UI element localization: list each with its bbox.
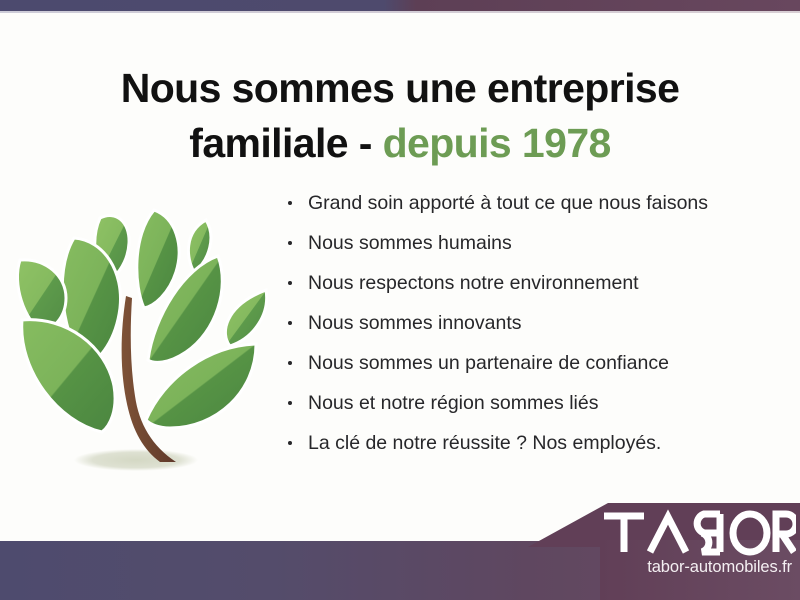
- list-item: Nous sommes un partenaire de confiance: [286, 350, 786, 376]
- bullet-dot-icon: [288, 401, 292, 405]
- top-accent-hairline: [0, 11, 800, 13]
- bullet-dot-icon: [288, 241, 292, 245]
- list-item: Grand soin apporté à tout ce que nous fa…: [286, 190, 786, 216]
- tree-shadow: [74, 449, 198, 471]
- list-item-label: Nous et notre région sommes liés: [308, 392, 598, 414]
- logo-tagline: tabor-automobiles.fr: [600, 558, 792, 577]
- list-item-label: Nous sommes humains: [308, 232, 512, 254]
- headline-line-2-accent: depuis 1978: [383, 120, 611, 166]
- leaf-far-right: [225, 290, 266, 346]
- logo-wordmark-icon: [600, 508, 796, 556]
- value-proposition-list: Grand soin apporté à tout ce que nous fa…: [286, 190, 786, 470]
- headline-line-2-black: familiale -: [189, 120, 382, 166]
- list-item: Nous sommes humains: [286, 230, 786, 256]
- tree-illustration: [8, 188, 274, 488]
- slide-canvas: Nous sommes une entreprise familiale - d…: [0, 0, 800, 600]
- bullet-dot-icon: [288, 321, 292, 325]
- list-item: Nous et notre région sommes liés: [286, 390, 786, 416]
- headline-line-1: Nous sommes une entreprise: [40, 61, 760, 115]
- bullet-dot-icon: [288, 441, 292, 445]
- list-item-label: Nous respectons notre environnement: [308, 272, 639, 294]
- brand-logo[interactable]: tabor-automobiles.fr: [600, 508, 796, 592]
- list-item: La clé de notre réussite ? Nos employés.: [286, 430, 786, 456]
- list-item-label: Nous sommes un partenaire de confiance: [308, 352, 669, 374]
- list-item-label: Grand soin apporté à tout ce que nous fa…: [308, 192, 708, 214]
- bullet-dot-icon: [288, 281, 292, 285]
- list-item-label: La clé de notre réussite ? Nos employés.: [308, 432, 661, 454]
- list-item: Nous respectons notre environnement: [286, 270, 786, 296]
- top-accent-bar: [0, 0, 800, 11]
- bullet-dot-icon: [288, 361, 292, 365]
- headline-line-2: familiale - depuis 1978: [40, 116, 760, 170]
- list-item: Nous sommes innovants: [286, 310, 786, 336]
- page-title: Nous sommes une entreprise familiale - d…: [40, 61, 760, 169]
- list-item-label: Nous sommes innovants: [308, 312, 522, 334]
- bullet-dot-icon: [288, 201, 292, 205]
